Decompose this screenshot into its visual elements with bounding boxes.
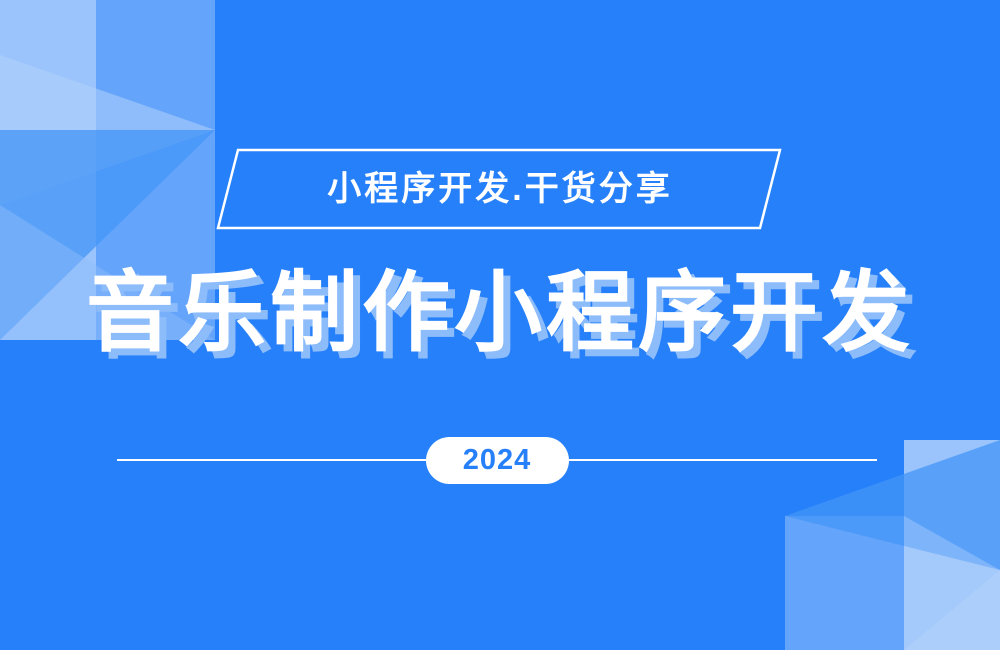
divider-line-left bbox=[117, 459, 426, 461]
footer-row: 2024 bbox=[117, 436, 877, 484]
right-light-band bbox=[904, 440, 1000, 650]
banner-subtitle: 小程序开发.干货分享 bbox=[0, 148, 1000, 230]
right-inner-wedge bbox=[904, 516, 1000, 650]
subtitle-block: 小程序开发.干货分享 bbox=[0, 148, 1000, 230]
title-block: 音乐制作小程序开发 bbox=[0, 258, 1000, 368]
banner-root: 小程序开发.干货分享 音乐制作小程序开发 2024 bbox=[0, 0, 1000, 650]
right-lower-wedge bbox=[904, 570, 1000, 650]
right-mid-band bbox=[785, 516, 904, 650]
divider-line-right bbox=[569, 459, 878, 461]
banner-title: 音乐制作小程序开发 bbox=[86, 269, 914, 357]
year-badge: 2024 bbox=[426, 437, 569, 484]
